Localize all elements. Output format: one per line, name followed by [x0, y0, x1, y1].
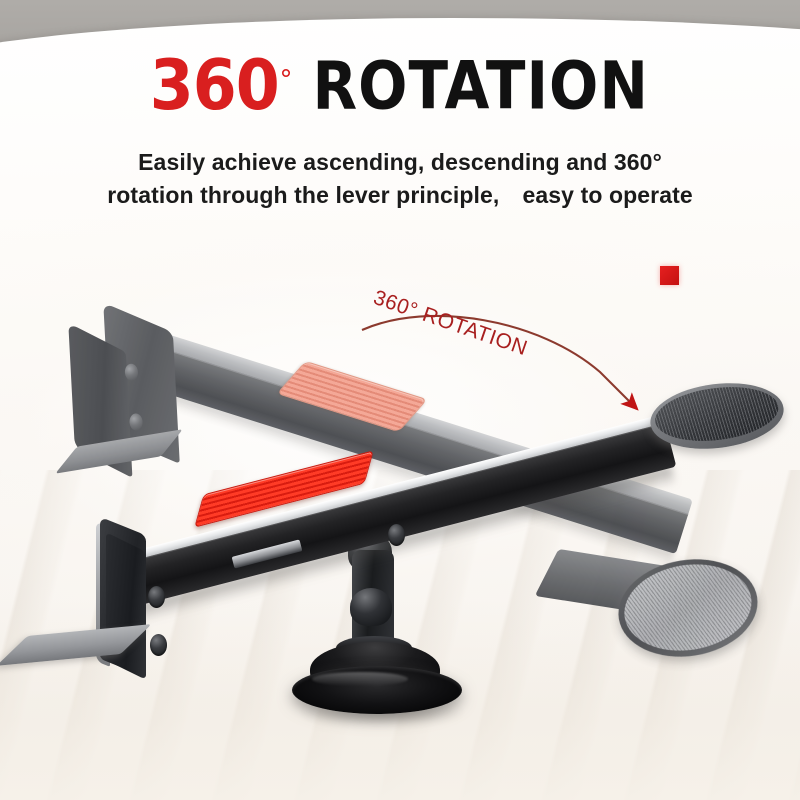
base-ball-joint-lower	[350, 588, 392, 626]
product-banner-stage: 360° ROTATION 360°ROTATION Easily achiev…	[0, 0, 800, 800]
foreground-arm-rivet	[388, 524, 405, 546]
grip-disc-upper-right	[647, 376, 788, 456]
grip-disc-lower-right	[611, 550, 764, 667]
foreground-bracket-side	[106, 532, 146, 680]
red-square-marker	[660, 266, 679, 285]
headline-word: ROTATION	[313, 53, 649, 119]
phone-cradle-bracket-foreground	[14, 520, 164, 700]
headline-degree-symbol: °	[280, 65, 293, 95]
base-flange-highlight	[312, 672, 408, 686]
subtitle-line-2: rotation through the lever principle, ea…	[60, 179, 740, 212]
headline-number: 360	[150, 51, 279, 120]
subtitle-line-1: Easily achieve ascending, descending and…	[138, 149, 662, 175]
phone-cradle-bracket-ghost	[66, 315, 186, 471]
subtitle: Easily achieve ascending, descending and…	[60, 146, 740, 211]
page-title: 360°ROTATION	[0, 58, 800, 120]
